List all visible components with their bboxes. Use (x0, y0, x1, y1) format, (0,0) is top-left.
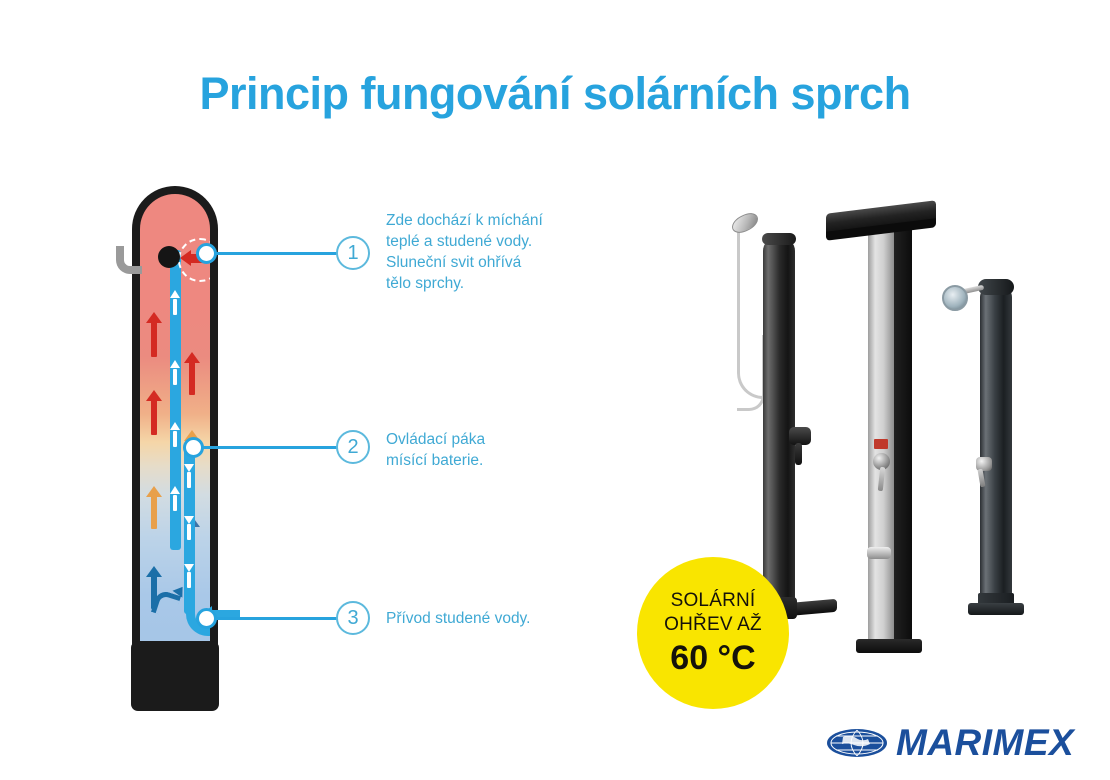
brand-wordmark: MARIMEX (896, 722, 1074, 764)
callout-1-number: 1 (336, 236, 370, 270)
callout-3-text: Přívod studené vody. (386, 608, 606, 629)
page-title: Princip fungování solárních sprch (0, 68, 1110, 120)
badge-line-1: SOLÁRNÍ (671, 589, 756, 613)
round-shower-head-icon (942, 285, 968, 311)
callout-2-leader-line (203, 446, 338, 449)
callout-1-text: Zde dochází k míchání teplé a studené vo… (386, 210, 596, 294)
shower-hose-loop (737, 335, 765, 411)
shower-spout-arm (116, 246, 142, 274)
badge-line-2: OHŘEV AŽ (664, 613, 762, 637)
mixer-valve-lever (795, 443, 802, 465)
shower-column (763, 237, 795, 615)
marimex-logo: MARIMEX (826, 722, 1074, 766)
callout-2-anchor-dot (183, 437, 204, 458)
callout-3-number: 3 (336, 601, 370, 635)
product-dark-round-solar-shower (940, 267, 1050, 622)
callout-2-number: 2 (336, 430, 370, 464)
shower-base-plate (968, 603, 1024, 615)
callout-3-leader-line (216, 617, 338, 620)
shower-base-plate (856, 639, 922, 653)
product-silver-square-solar-shower (820, 195, 960, 675)
callout-3-anchor-dot (196, 608, 217, 629)
shower-base-block (131, 641, 219, 711)
shower-body-temperature-gradient (140, 194, 210, 672)
shower-column-front-panel (868, 229, 894, 643)
callout-1-anchor-dot (196, 243, 217, 264)
mixer-ball-joint (158, 246, 180, 268)
product-label-badge (874, 439, 888, 449)
callout-2-text: Ovládací páka mísící baterie. (386, 429, 596, 471)
callout-1-leader-line (216, 252, 338, 255)
infographic-canvas: Princip fungování solárních sprch (0, 0, 1110, 780)
badge-temperature-value: 60 °C (670, 639, 755, 677)
foot-wash-valve (867, 547, 891, 559)
shower-column (980, 287, 1012, 607)
globe-icon (826, 728, 888, 758)
shower-column-cap (762, 233, 796, 245)
solar-heating-badge: SOLÁRNÍ OHŘEV AŽ 60 °C (637, 557, 789, 709)
